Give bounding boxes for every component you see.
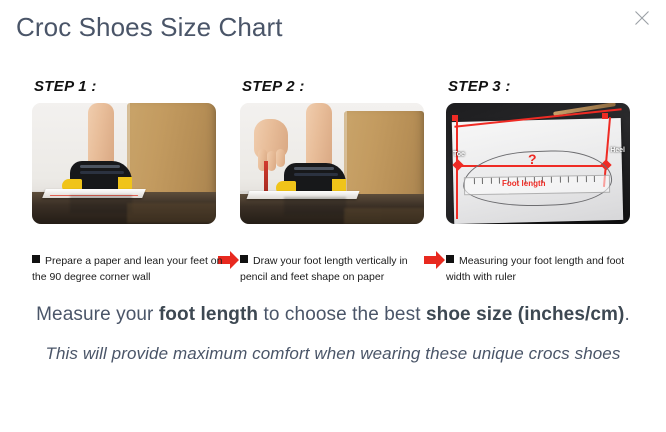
step-3: STEP 3 :	[446, 78, 634, 224]
diagram-label-toe: Toe	[453, 151, 465, 158]
modal-header: Croc Shoes Size Chart	[0, 0, 666, 62]
diagram-label-question: ?	[528, 151, 537, 167]
lead-part-1: Measure your	[36, 304, 159, 325]
bullet-square-icon	[32, 255, 40, 263]
close-icon	[634, 10, 650, 26]
step-2-image	[240, 103, 424, 224]
step-2-caption: Draw your foot length vertically in penc…	[240, 253, 432, 286]
footer-text: Measure your foot length to choose the b…	[0, 302, 666, 366]
step-1-label: STEP 1 :	[34, 78, 220, 95]
diagram-label-foot-length: Foot length	[502, 179, 546, 188]
bullet-square-icon	[446, 255, 454, 263]
step-2: STEP 2 :	[240, 78, 428, 224]
lead-bold-foot-length: foot length	[159, 304, 258, 325]
step-1-caption: Prepare a paper and lean your feet on th…	[32, 253, 224, 286]
step-1-caption-text: Prepare a paper and lean your feet on th…	[32, 255, 222, 283]
step-2-label: STEP 2 :	[242, 78, 428, 95]
lead-bold-shoe-size: shoe size (inches/cm)	[426, 304, 625, 325]
lead-sentence: Measure your foot length to choose the b…	[0, 302, 666, 328]
page-title: Croc Shoes Size Chart	[16, 12, 283, 43]
lead-part-3: .	[624, 304, 629, 325]
sub-sentence: This will provide maximum comfort when w…	[0, 342, 666, 367]
step-2-caption-text: Draw your foot length vertically in penc…	[240, 255, 408, 283]
step-3-label: STEP 3 :	[448, 78, 634, 95]
step-3-image: Toe Heel ? Foot length	[446, 103, 630, 224]
close-button[interactable]	[628, 4, 656, 32]
step-1-image	[32, 103, 216, 224]
size-chart-modal: Croc Shoes Size Chart STEP 1 :	[0, 0, 666, 432]
step-1: STEP 1 :	[32, 78, 220, 224]
step-3-caption: Measuring your foot length and foot widt…	[446, 253, 638, 286]
lead-part-2: to choose the best	[258, 304, 426, 325]
bullet-square-icon	[240, 255, 248, 263]
step-3-caption-text: Measuring your foot length and foot widt…	[446, 255, 624, 283]
diagram-label-heel: Heel	[610, 147, 625, 154]
